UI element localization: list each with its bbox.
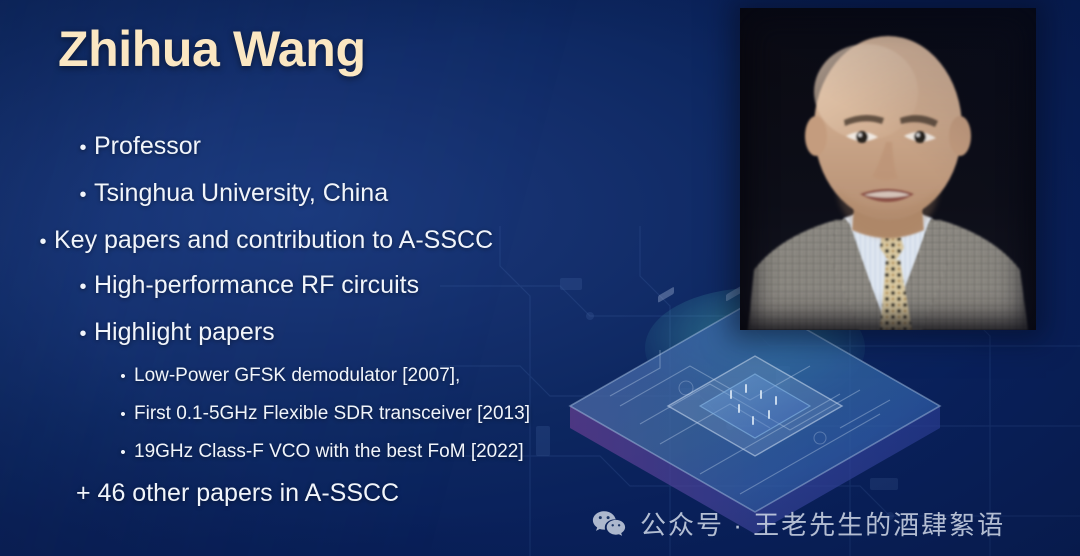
list-item: • Key papers and contribution to A-SSCC — [0, 226, 720, 255]
list-item: • High-performance RF circuits — [0, 271, 720, 300]
list-item-label: Tsinghua University, China — [94, 179, 388, 208]
other-papers-label: + 46 other papers in A-SSCC — [76, 479, 399, 508]
watermark-label: 公众号 · 王老先生的酒肆絮语 — [640, 505, 1005, 542]
page-title: Zhihua Wang — [58, 20, 366, 78]
list-item: • Low-Power GFSK demodulator [2007], — [0, 365, 720, 387]
other-papers-note: + 46 other papers in A-SSCC — [0, 479, 720, 508]
wechat-icon — [592, 510, 626, 538]
bullet-list: • Professor • Tsinghua University, China… — [0, 132, 720, 508]
list-item: • Tsinghua University, China — [0, 179, 720, 208]
list-item: • First 0.1-5GHz Flexible SDR transceive… — [0, 403, 720, 425]
list-item-label: High-performance RF circuits — [94, 271, 419, 300]
bullet-icon: • — [32, 231, 54, 254]
bullet-icon: • — [112, 406, 134, 423]
list-item: • Professor — [0, 132, 720, 161]
watermark: 公众号 · 王老先生的酒肆絮语 — [592, 505, 1005, 542]
list-item-label: First 0.1-5GHz Flexible SDR transceiver … — [134, 403, 530, 425]
list-item-label: Professor — [94, 132, 201, 161]
bullet-icon: • — [72, 137, 94, 160]
list-item: • Highlight papers — [0, 318, 720, 347]
list-item-label: 19GHz Class-F VCO with the best FoM [202… — [134, 441, 524, 463]
slide-canvas: Zhihua Wang • Professor • Tsinghua Unive… — [0, 0, 1080, 556]
list-item-label: Low-Power GFSK demodulator [2007], — [134, 365, 460, 387]
bullet-icon: • — [72, 323, 94, 346]
list-item-label: Highlight papers — [94, 318, 275, 347]
list-item: • 19GHz Class-F VCO with the best FoM [2… — [0, 441, 720, 463]
bullet-icon: • — [112, 368, 134, 385]
bullet-icon: • — [72, 184, 94, 207]
list-item-label: Key papers and contribution to A-SSCC — [54, 226, 493, 255]
bullet-icon: • — [112, 444, 134, 461]
bullet-icon: • — [72, 276, 94, 299]
